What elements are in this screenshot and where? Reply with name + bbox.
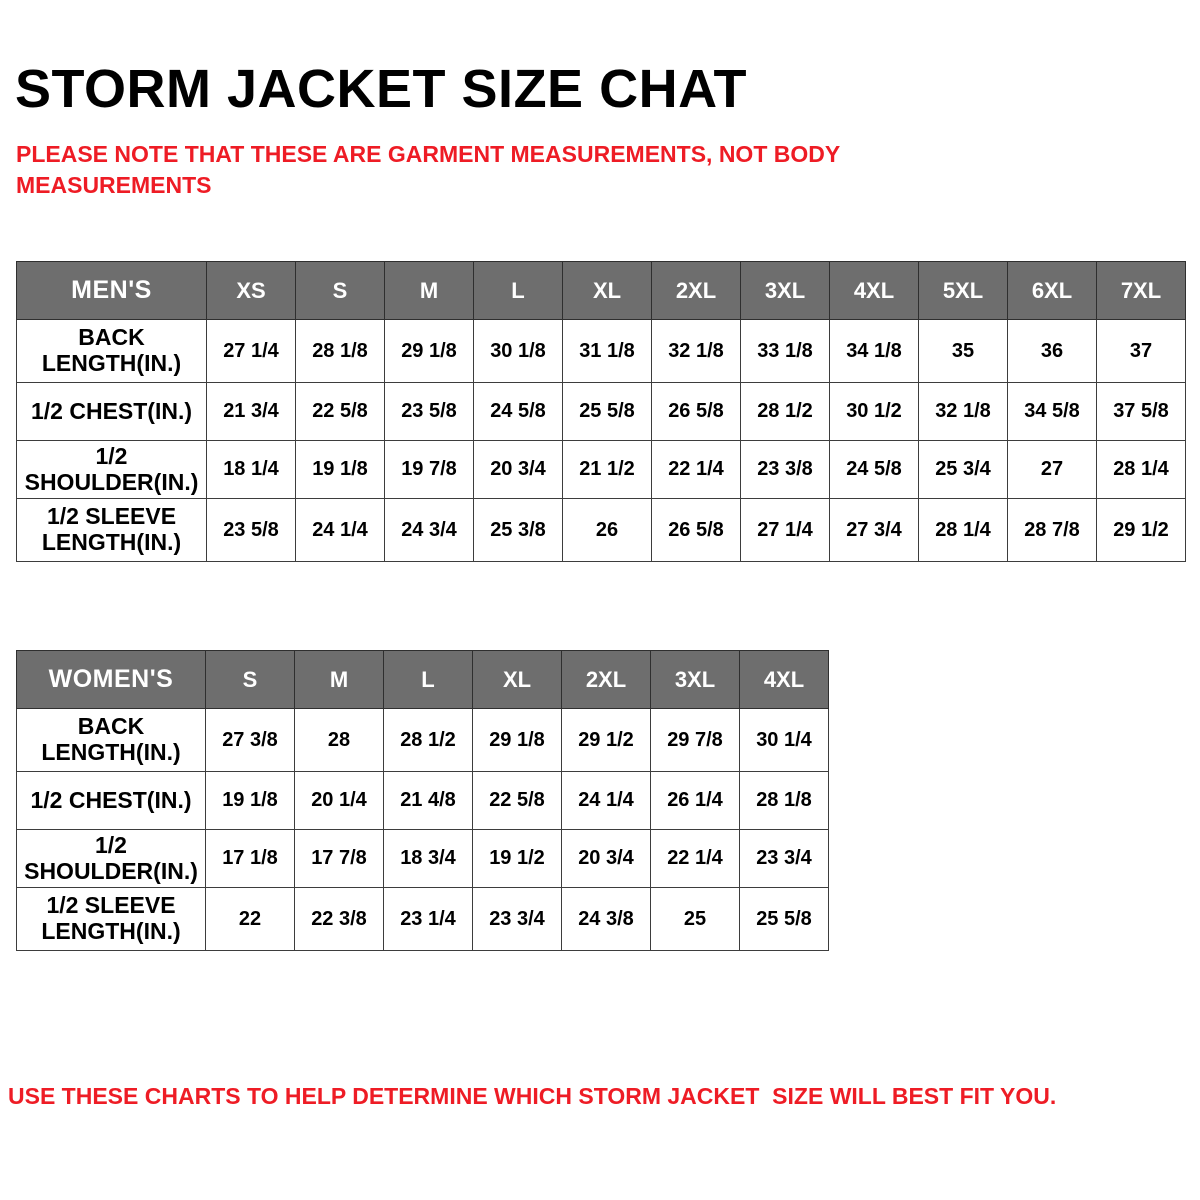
row-label-line: 1/2 SHOULDER(IN.) [25, 443, 199, 495]
table-row: 1/2 SLEEVELENGTH(IN.)23 5/824 1/424 3/42… [17, 499, 1186, 562]
measurement-cell: 28 1/2 [741, 383, 830, 441]
measurement-cell: 32 1/8 [652, 320, 741, 383]
measurement-cell: 22 5/8 [473, 772, 562, 830]
measurement-cell: 24 5/8 [474, 383, 563, 441]
measurement-cell: 21 4/8 [384, 772, 473, 830]
row-label-line: BACK [78, 324, 144, 350]
column-header-l: L [384, 651, 473, 709]
mens-header-label: MEN'S [17, 262, 207, 320]
column-header-s: S [206, 651, 295, 709]
row-label: 1/2 SLEEVELENGTH(IN.) [17, 888, 206, 951]
measurement-cell: 26 1/4 [651, 772, 740, 830]
measurement-cell: 23 5/8 [207, 499, 296, 562]
mens-size-table: MEN'SXSSMLXL2XL3XL4XL5XL6XL7XL BACKLENGT… [16, 261, 1186, 562]
page-title: STORM JACKET SIZE CHAT [15, 62, 747, 116]
measurement-cell: 17 7/8 [295, 830, 384, 888]
measurement-cell: 22 3/8 [295, 888, 384, 951]
measurement-cell: 28 1/4 [1097, 441, 1186, 499]
measurement-cell: 22 [206, 888, 295, 951]
row-label-line: 1/2 SHOULDER(IN.) [24, 832, 198, 884]
measurement-cell: 27 1/4 [741, 499, 830, 562]
row-label-line: 1/2 CHEST(IN.) [30, 787, 191, 813]
mens-table-body: BACKLENGTH(IN.)27 1/428 1/829 1/830 1/83… [17, 320, 1186, 562]
measurement-cell: 19 1/8 [206, 772, 295, 830]
measurement-cell: 24 1/4 [562, 772, 651, 830]
column-header-s: S [296, 262, 385, 320]
measurement-cell: 35 [919, 320, 1008, 383]
measurement-cell: 18 1/4 [207, 441, 296, 499]
measurement-cell: 27 3/8 [206, 709, 295, 772]
measurement-cell: 34 5/8 [1008, 383, 1097, 441]
column-header-3xl: 3XL [651, 651, 740, 709]
measurement-cell: 36 [1008, 320, 1097, 383]
measurement-cell: 20 3/4 [562, 830, 651, 888]
measurement-cell: 22 1/4 [651, 830, 740, 888]
row-label: 1/2 CHEST(IN.) [17, 383, 207, 441]
column-header-m: M [385, 262, 474, 320]
column-header-4xl: 4XL [740, 651, 829, 709]
row-label-line: BACK [78, 713, 144, 739]
row-label-line: LENGTH(IN.) [42, 350, 181, 376]
measurement-cell: 19 1/2 [473, 830, 562, 888]
measurement-cell: 34 1/8 [830, 320, 919, 383]
measurement-cell: 23 1/4 [384, 888, 473, 951]
measurement-cell: 25 5/8 [740, 888, 829, 951]
measurement-cell: 28 7/8 [1008, 499, 1097, 562]
measurement-cell: 24 5/8 [830, 441, 919, 499]
row-label: 1/2 CHEST(IN.) [17, 772, 206, 830]
measurement-cell: 23 5/8 [385, 383, 474, 441]
measurement-cell: 32 1/8 [919, 383, 1008, 441]
measurement-cell: 28 1/4 [919, 499, 1008, 562]
column-header-xl: XL [563, 262, 652, 320]
measurement-cell: 24 1/4 [296, 499, 385, 562]
measurement-cell: 28 [295, 709, 384, 772]
measurement-cell: 29 1/2 [562, 709, 651, 772]
column-header-3xl: 3XL [741, 262, 830, 320]
measurement-cell: 30 1/8 [474, 320, 563, 383]
measurement-cell: 37 5/8 [1097, 383, 1186, 441]
mens-table-header: MEN'SXSSMLXL2XL3XL4XL5XL6XL7XL [17, 262, 1186, 320]
column-header-xs: XS [207, 262, 296, 320]
measurement-cell: 19 7/8 [385, 441, 474, 499]
measurement-cell: 21 3/4 [207, 383, 296, 441]
chart-usage-note: USE THESE CHARTS TO HELP DETERMINE WHICH… [8, 1083, 1138, 1110]
column-header-xl: XL [473, 651, 562, 709]
row-label: 1/2 SHOULDER(IN.) [17, 830, 206, 888]
womens-table-body: BACKLENGTH(IN.)27 3/82828 1/229 1/829 1/… [17, 709, 829, 951]
measurement-cell: 31 1/8 [563, 320, 652, 383]
measurement-cell: 25 5/8 [563, 383, 652, 441]
measurement-cell: 25 3/4 [919, 441, 1008, 499]
measurement-cell: 30 1/2 [830, 383, 919, 441]
table-row: 1/2 SHOULDER(IN.)18 1/419 1/819 7/820 3/… [17, 441, 1186, 499]
table-row: 1/2 CHEST(IN.)19 1/820 1/421 4/822 5/824… [17, 772, 829, 830]
womens-table-header: WOMEN'SSMLXL2XL3XL4XL [17, 651, 829, 709]
measurement-cell: 26 5/8 [652, 383, 741, 441]
table-row: 1/2 CHEST(IN.)21 3/422 5/823 5/824 5/825… [17, 383, 1186, 441]
measurement-cell: 24 3/4 [385, 499, 474, 562]
table-row: 1/2 SLEEVELENGTH(IN.)2222 3/823 1/423 3/… [17, 888, 829, 951]
measurement-cell: 18 3/4 [384, 830, 473, 888]
measurement-cell: 25 [651, 888, 740, 951]
table-row: BACKLENGTH(IN.)27 3/82828 1/229 1/829 1/… [17, 709, 829, 772]
measurement-cell: 21 1/2 [563, 441, 652, 499]
table-row: 1/2 SHOULDER(IN.)17 1/817 7/818 3/419 1/… [17, 830, 829, 888]
measurement-cell: 19 1/8 [296, 441, 385, 499]
measurement-cell: 33 1/8 [741, 320, 830, 383]
row-label-line: LENGTH(IN.) [41, 739, 180, 765]
womens-size-table: WOMEN'SSMLXL2XL3XL4XL BACKLENGTH(IN.)27 … [16, 650, 829, 951]
column-header-4xl: 4XL [830, 262, 919, 320]
column-header-6xl: 6XL [1008, 262, 1097, 320]
row-label-line: 1/2 CHEST(IN.) [31, 398, 192, 424]
womens-header-label: WOMEN'S [17, 651, 206, 709]
garment-measurement-note: PLEASE NOTE THAT THESE ARE GARMENT MEASU… [16, 139, 996, 201]
measurement-cell: 29 1/8 [473, 709, 562, 772]
measurement-cell: 26 [563, 499, 652, 562]
measurement-cell: 27 1/4 [207, 320, 296, 383]
row-label-line: 1/2 SLEEVE [46, 892, 175, 918]
row-label: BACKLENGTH(IN.) [17, 320, 207, 383]
measurement-cell: 23 3/8 [741, 441, 830, 499]
measurement-cell: 29 1/2 [1097, 499, 1186, 562]
measurement-cell: 29 7/8 [651, 709, 740, 772]
measurement-cell: 29 1/8 [385, 320, 474, 383]
measurement-cell: 24 3/8 [562, 888, 651, 951]
measurement-cell: 30 1/4 [740, 709, 829, 772]
mens-header-row: MEN'SXSSMLXL2XL3XL4XL5XL6XL7XL [17, 262, 1186, 320]
measurement-cell: 26 5/8 [652, 499, 741, 562]
womens-header-row: WOMEN'SSMLXL2XL3XL4XL [17, 651, 829, 709]
measurement-cell: 25 3/8 [474, 499, 563, 562]
measurement-cell: 28 1/8 [740, 772, 829, 830]
column-header-7xl: 7XL [1097, 262, 1186, 320]
row-label: BACKLENGTH(IN.) [17, 709, 206, 772]
measurement-cell: 28 1/2 [384, 709, 473, 772]
row-label: 1/2 SHOULDER(IN.) [17, 441, 207, 499]
measurement-cell: 23 3/4 [473, 888, 562, 951]
measurement-cell: 22 5/8 [296, 383, 385, 441]
column-header-2xl: 2XL [652, 262, 741, 320]
column-header-2xl: 2XL [562, 651, 651, 709]
measurement-cell: 23 3/4 [740, 830, 829, 888]
column-header-l: L [474, 262, 563, 320]
row-label-line: LENGTH(IN.) [41, 918, 180, 944]
row-label-line: 1/2 SLEEVE [47, 503, 176, 529]
measurement-cell: 27 [1008, 441, 1097, 499]
measurement-cell: 22 1/4 [652, 441, 741, 499]
measurement-cell: 17 1/8 [206, 830, 295, 888]
column-header-m: M [295, 651, 384, 709]
measurement-cell: 37 [1097, 320, 1186, 383]
measurement-cell: 20 3/4 [474, 441, 563, 499]
column-header-5xl: 5XL [919, 262, 1008, 320]
row-label: 1/2 SLEEVELENGTH(IN.) [17, 499, 207, 562]
measurement-cell: 27 3/4 [830, 499, 919, 562]
size-chart-page: STORM JACKET SIZE CHAT PLEASE NOTE THAT … [0, 0, 1200, 1200]
measurement-cell: 28 1/8 [296, 320, 385, 383]
table-row: BACKLENGTH(IN.)27 1/428 1/829 1/830 1/83… [17, 320, 1186, 383]
row-label-line: LENGTH(IN.) [42, 529, 181, 555]
measurement-cell: 20 1/4 [295, 772, 384, 830]
